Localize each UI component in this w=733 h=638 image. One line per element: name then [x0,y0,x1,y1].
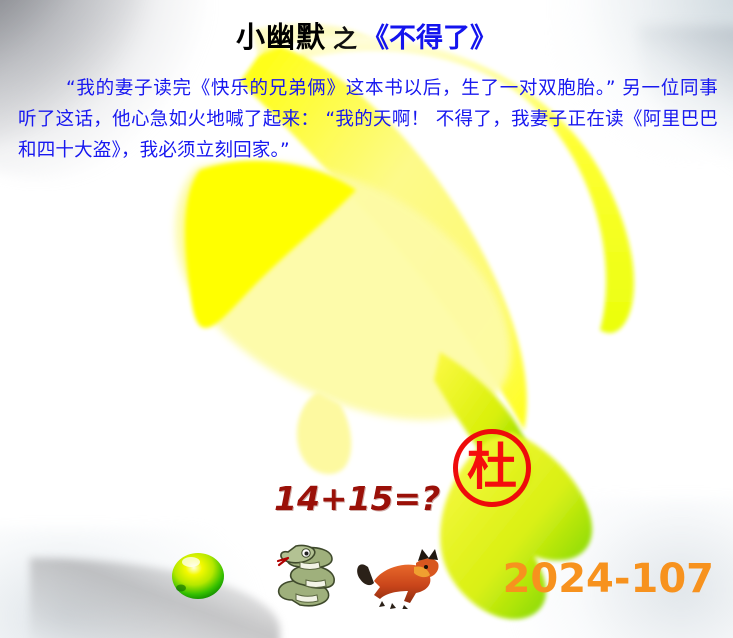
title-main-text: 小幽默 [236,20,326,54]
joke-body-text: “我的妻子读完《快乐的兄弟俩》这本书以后，生了一对双胞胎。” 另一位同事听了这话… [18,73,718,166]
corner-streak-bottom-left [30,558,280,638]
poster-canvas: 小幽默之《不得了》 “我的妻子读完《快乐的兄弟俩》这本书以后，生了一对双胞胎。”… [0,0,733,638]
red-seal-stamp: 杜 [453,429,531,507]
green-yellow-orb-icon [167,548,229,602]
seal-character: 杜 [467,442,517,492]
title-subtitle-text: 《不得了》 [362,23,497,54]
snake-cartoon-icon [266,540,348,612]
page-title: 小幽默之《不得了》 [0,14,733,56]
issue-number: 2024-107 [503,556,714,602]
title-connector-text: 之 [333,25,357,53]
horse-cartoon-icon [352,545,442,609]
math-expression: 14+15=? [274,479,440,518]
